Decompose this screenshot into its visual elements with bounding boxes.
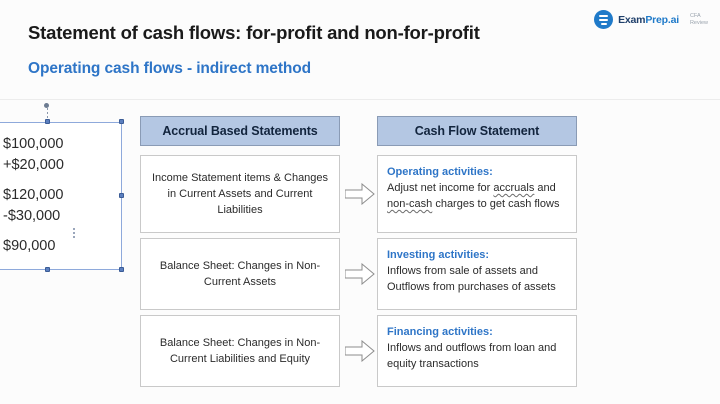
- cell-cashflow-row-1: Operating activities: Adjust net income …: [377, 155, 577, 233]
- activity-title-operating: Operating activities:: [387, 164, 567, 180]
- activity-title-investing: Investing activities:: [387, 247, 567, 263]
- activity-body-financing: Inflows and outflows from loan and equit…: [387, 342, 556, 370]
- text-cursor: [73, 228, 75, 240]
- resize-handle-top-right[interactable]: [119, 119, 124, 124]
- textbox-content: $100,000 +$20,000 $120,000 -$30,000 $90,…: [3, 134, 64, 257]
- cell-cashflow-row-2: Investing activities: Inflows from sale …: [377, 238, 577, 310]
- resize-handle-middle-right[interactable]: [119, 193, 124, 198]
- cell-accrual-row-1: Income Statement items & Changes in Curr…: [140, 155, 340, 233]
- brand-tagline-line1: CFA: [690, 13, 701, 19]
- column-header-cashflow: Cash Flow Statement: [377, 116, 577, 146]
- misspelled-word-non-cash: non-cash: [387, 198, 432, 210]
- column-header-accrual: Accrual Based Statements: [140, 116, 340, 146]
- cell-accrual-row-3: Balance Sheet: Changes in Non-Current Li…: [140, 315, 340, 387]
- resize-handle-top-center[interactable]: [45, 119, 50, 124]
- slide-canvas: Statement of cash flows: for-profit and …: [0, 0, 720, 404]
- brand-tagline-line2: Review: [690, 20, 708, 26]
- resize-handle-bottom-right[interactable]: [119, 267, 124, 272]
- right-block-arrow-icon: [345, 183, 375, 205]
- misspelled-word-accruals: accruals: [493, 182, 534, 194]
- amount-line-3: $120,000: [3, 187, 63, 203]
- activity-body-investing: Inflows from sale of assets and Outflows…: [387, 265, 556, 293]
- cell-cashflow-row-3: Financing activities: Inflows and outflo…: [377, 315, 577, 387]
- amount-line-1: $100,000: [3, 136, 63, 152]
- right-block-arrow-icon: [345, 263, 375, 285]
- amount-line-5: $90,000: [3, 238, 55, 254]
- brand-tagline: CFA Review: [690, 13, 708, 27]
- brand-name-primary: Exam: [618, 14, 645, 26]
- cell-accrual-row-2: Balance Sheet: Changes in Non-Current As…: [140, 238, 340, 310]
- activity-body-operating-part1: Adjust net income for: [387, 182, 493, 194]
- brand-name: ExamPrep.ai: [618, 14, 679, 26]
- textbox-frame[interactable]: $100,000 +$20,000 $120,000 -$30,000 $90,…: [0, 122, 122, 270]
- activity-title-financing: Financing activities:: [387, 324, 567, 340]
- amount-line-2: +$20,000: [3, 157, 64, 173]
- page-title: Statement of cash flows: for-profit and …: [28, 22, 480, 44]
- activity-body-operating-part3: charges to get cash flows: [432, 198, 559, 210]
- right-block-arrow-icon: [345, 340, 375, 362]
- header-divider: [0, 99, 720, 100]
- resize-handle-bottom-center[interactable]: [45, 267, 50, 272]
- exam-prep-circle-icon: [594, 10, 613, 29]
- page-subtitle: Operating cash flows - indirect method: [28, 60, 311, 78]
- amount-line-4: -$30,000: [3, 208, 60, 224]
- selected-textbox[interactable]: $100,000 +$20,000 $120,000 -$30,000 $90,…: [0, 122, 122, 270]
- brand-name-secondary: Prep.ai: [645, 14, 679, 26]
- brand-logo: ExamPrep.ai CFA Review: [594, 10, 708, 29]
- activity-body-operating-part2: and: [534, 182, 555, 194]
